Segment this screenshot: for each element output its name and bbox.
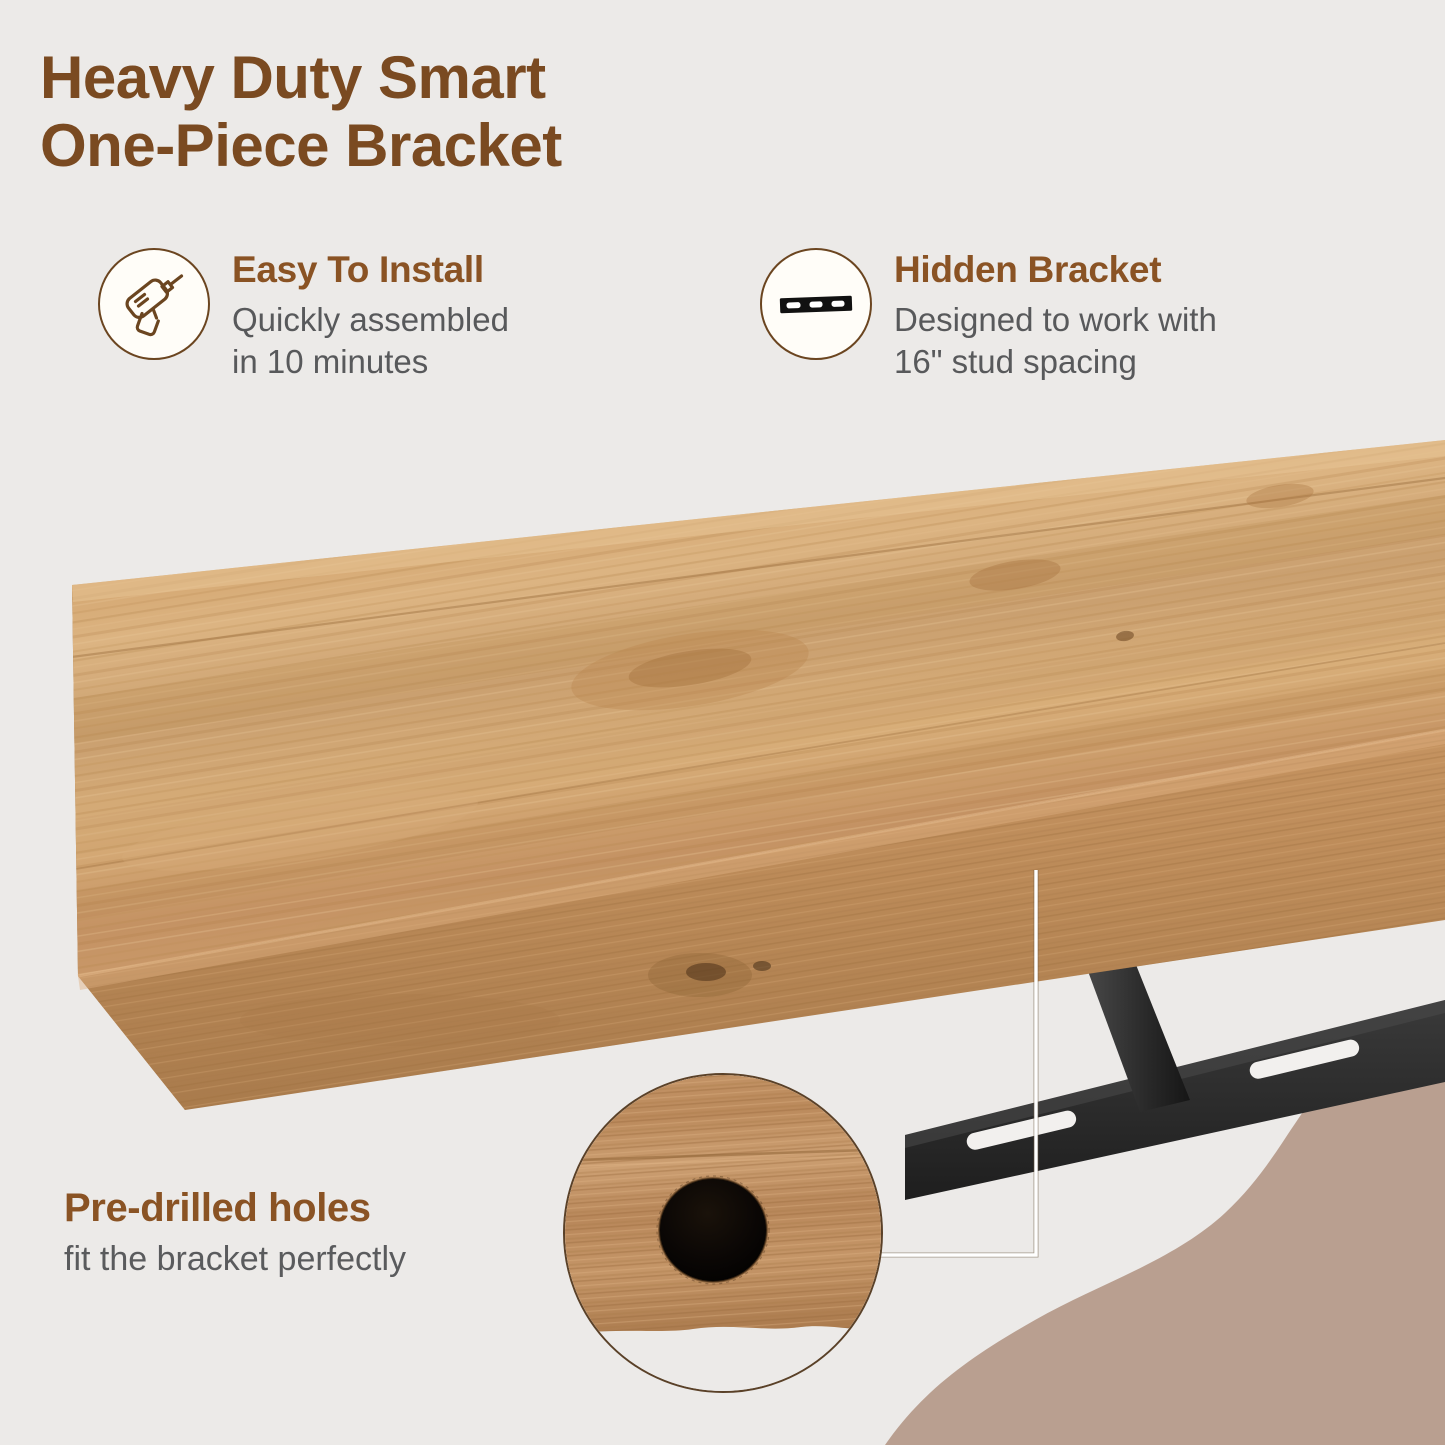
product-infographic: Heavy Duty Smart One-Piece Bracket (0, 0, 1445, 1445)
feature-desc-line-2: in 10 minutes (232, 341, 509, 383)
bracket-bar-icon (774, 262, 858, 346)
magnifier-content (563, 1073, 883, 1393)
caption-title: Pre-drilled holes (64, 1186, 584, 1230)
feature-icon-badge (98, 248, 210, 360)
caption-predrilled-holes: Pre-drilled holes fit the bracket perfec… (64, 1186, 584, 1279)
magnifier-inset-predrilled-hole (563, 1073, 883, 1393)
feature-easy-to-install: Easy To Install Quickly assembled in 10 … (98, 248, 509, 383)
feature-desc-line-1: Designed to work with (894, 299, 1217, 341)
feature-hidden-bracket: Hidden Bracket Designed to work with 16"… (760, 248, 1217, 383)
feature-description: Designed to work with 16" stud spacing (894, 299, 1217, 383)
feature-description: Quickly assembled in 10 minutes (232, 299, 509, 383)
headline-line-1: Heavy Duty Smart (40, 44, 546, 111)
feature-text-block: Hidden Bracket Designed to work with 16"… (894, 248, 1217, 383)
feature-title: Hidden Bracket (894, 250, 1217, 291)
feature-desc-line-1: Quickly assembled (232, 299, 509, 341)
caption-subtitle: fit the bracket perfectly (64, 1240, 584, 1279)
feature-desc-line-2: 16" stud spacing (894, 341, 1217, 383)
feature-icon-badge (760, 248, 872, 360)
headline-line-2: One-Piece Bracket (40, 112, 900, 180)
feature-text-block: Easy To Install Quickly assembled in 10 … (232, 248, 509, 383)
feature-title: Easy To Install (232, 250, 509, 291)
drill-icon (115, 265, 193, 343)
page-title: Heavy Duty Smart One-Piece Bracket (40, 44, 900, 180)
